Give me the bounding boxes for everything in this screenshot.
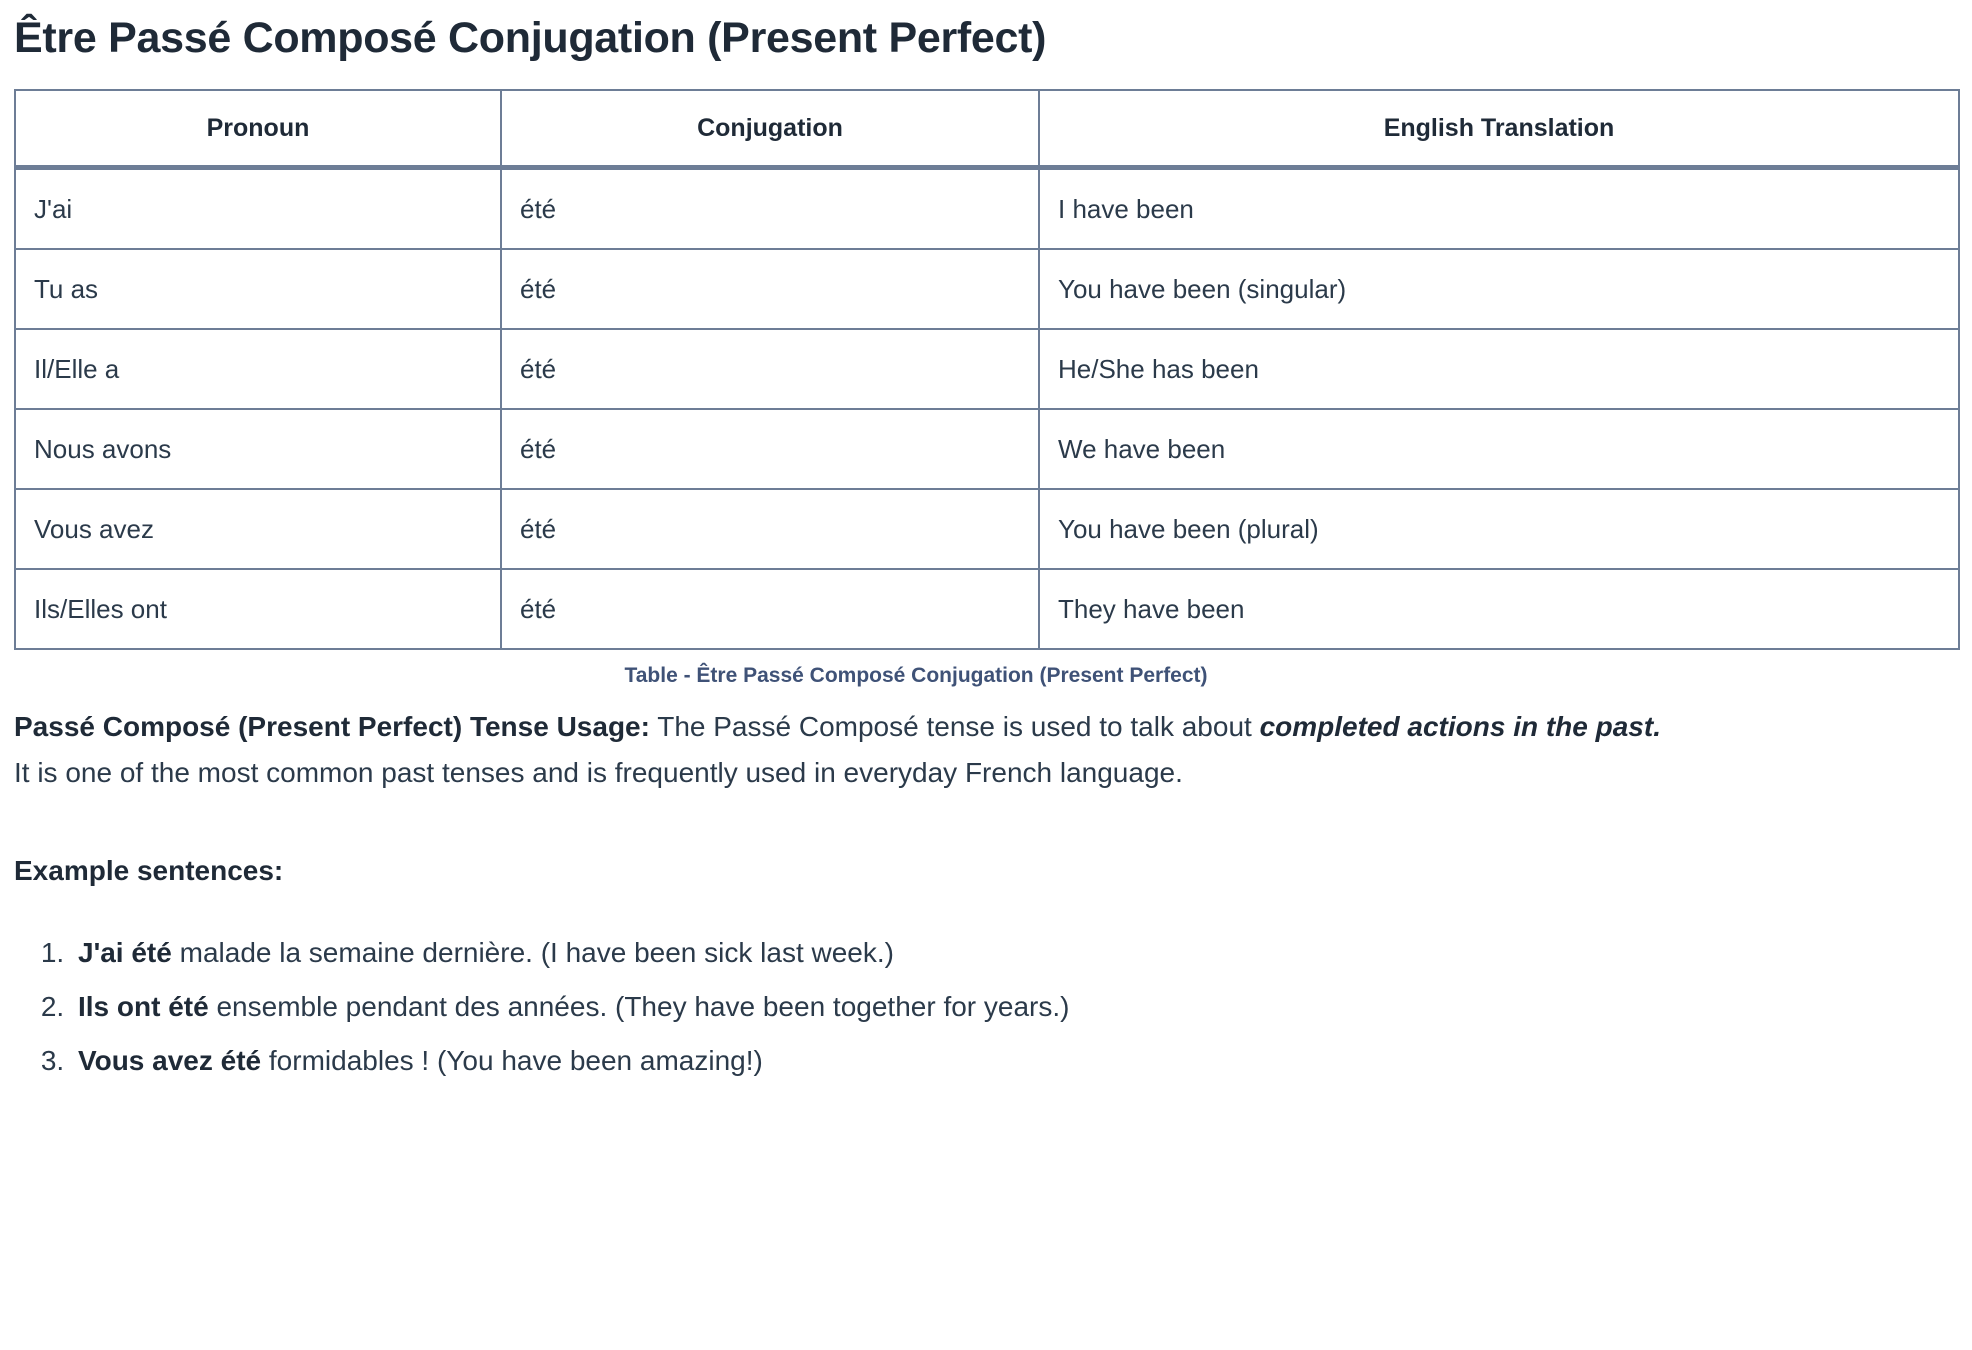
cell-pronoun: Ils/Elles ont bbox=[15, 569, 501, 649]
usage-emphasis: completed actions in the past. bbox=[1260, 711, 1661, 742]
examples-heading: Example sentences: bbox=[14, 855, 1958, 887]
table-head: Pronoun Conjugation English Translation bbox=[15, 90, 1959, 168]
example-rest: formidables ! (You have been amazing!) bbox=[261, 1045, 763, 1076]
cell-conjugation: été bbox=[501, 569, 1039, 649]
list-item: Vous avez été formidables ! (You have be… bbox=[72, 1047, 1958, 1075]
table-caption: Table - Être Passé Composé Conjugation (… bbox=[14, 664, 1958, 688]
cell-translation: You have been (plural) bbox=[1039, 489, 1959, 569]
list-item: Ils ont été ensemble pendant des années.… bbox=[72, 993, 1958, 1021]
cell-translation: You have been (singular) bbox=[1039, 249, 1959, 329]
table-header-row: Pronoun Conjugation English Translation bbox=[15, 90, 1959, 168]
cell-conjugation: été bbox=[501, 329, 1039, 409]
example-french-phrase: J'ai été bbox=[78, 937, 172, 968]
table-row: Nous avons été We have been bbox=[15, 409, 1959, 489]
cell-conjugation: été bbox=[501, 489, 1039, 569]
table-row: J'ai été I have been bbox=[15, 168, 1959, 250]
cell-translation: I have been bbox=[1039, 168, 1959, 250]
usage-paragraph: Passé Composé (Present Perfect) Tense Us… bbox=[14, 704, 1958, 795]
page-root: Être Passé Composé Conjugation (Present … bbox=[0, 0, 1972, 1350]
cell-translation: They have been bbox=[1039, 569, 1959, 649]
cell-translation: He/She has been bbox=[1039, 329, 1959, 409]
table-row: Il/Elle a été He/She has been bbox=[15, 329, 1959, 409]
conjugation-table-wrapper: Pronoun Conjugation English Translation … bbox=[14, 89, 1958, 688]
list-item: J'ai été malade la semaine dernière. (I … bbox=[72, 939, 1958, 967]
cell-translation: We have been bbox=[1039, 409, 1959, 489]
cell-pronoun: Vous avez bbox=[15, 489, 501, 569]
table-row: Vous avez été You have been (plural) bbox=[15, 489, 1959, 569]
cell-pronoun: J'ai bbox=[15, 168, 501, 250]
column-header-translation: English Translation bbox=[1039, 90, 1959, 168]
examples-list: J'ai été malade la semaine dernière. (I … bbox=[14, 939, 1958, 1075]
usage-lead-label: Passé Composé (Present Perfect) Tense Us… bbox=[14, 711, 650, 742]
cell-conjugation: été bbox=[501, 409, 1039, 489]
example-french-phrase: Ils ont été bbox=[78, 991, 209, 1022]
cell-pronoun: Tu as bbox=[15, 249, 501, 329]
example-rest: malade la semaine dernière. (I have been… bbox=[172, 937, 894, 968]
column-header-pronoun: Pronoun bbox=[15, 90, 501, 168]
table-body: J'ai été I have been Tu as été You have … bbox=[15, 168, 1959, 650]
usage-text-before: The Passé Composé tense is used to talk … bbox=[650, 711, 1260, 742]
table-row: Ils/Elles ont été They have been bbox=[15, 569, 1959, 649]
column-header-conjugation: Conjugation bbox=[501, 90, 1039, 168]
page-title: Être Passé Composé Conjugation (Present … bbox=[0, 0, 1972, 63]
example-rest: ensemble pendant des années. (They have … bbox=[209, 991, 1070, 1022]
conjugation-table: Pronoun Conjugation English Translation … bbox=[14, 89, 1960, 650]
table-row: Tu as été You have been (singular) bbox=[15, 249, 1959, 329]
cell-pronoun: Nous avons bbox=[15, 409, 501, 489]
usage-second-line: It is one of the most common past tenses… bbox=[14, 757, 1183, 788]
example-french-phrase: Vous avez été bbox=[78, 1045, 261, 1076]
cell-pronoun: Il/Elle a bbox=[15, 329, 501, 409]
cell-conjugation: été bbox=[501, 168, 1039, 250]
cell-conjugation: été bbox=[501, 249, 1039, 329]
